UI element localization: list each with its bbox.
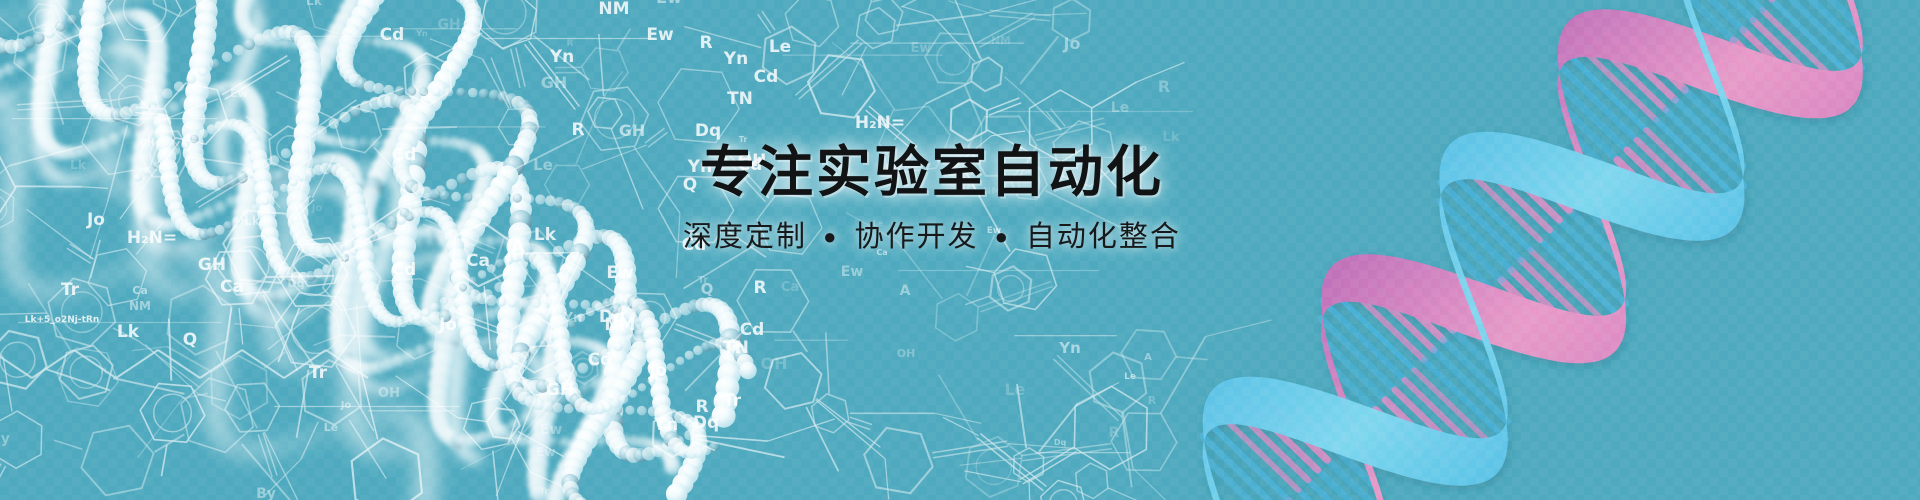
subtitle-item-2: 协作开发 [854,221,978,253]
subtitle-item-1: 深度定制 [683,221,807,253]
subtitle-separator-2: ● [989,224,1016,249]
banner-copy: 专注实验室自动化 深度定制 ● 协作开发 ● 自动化整合 [612,142,1252,254]
subtitle-item-3: 自动化整合 [1026,221,1181,253]
subtitle-separator-1: ● [817,224,844,249]
hero-banner: CdYnEwH₂N=OHRQLkCdEwNMDqCdJoCdGHTrTNRCdY… [0,0,1920,500]
banner-title: 专注实验室自动化 [612,142,1252,204]
banner-subtitle: 深度定制 ● 协作开发 ● 自动化整合 [612,220,1252,255]
